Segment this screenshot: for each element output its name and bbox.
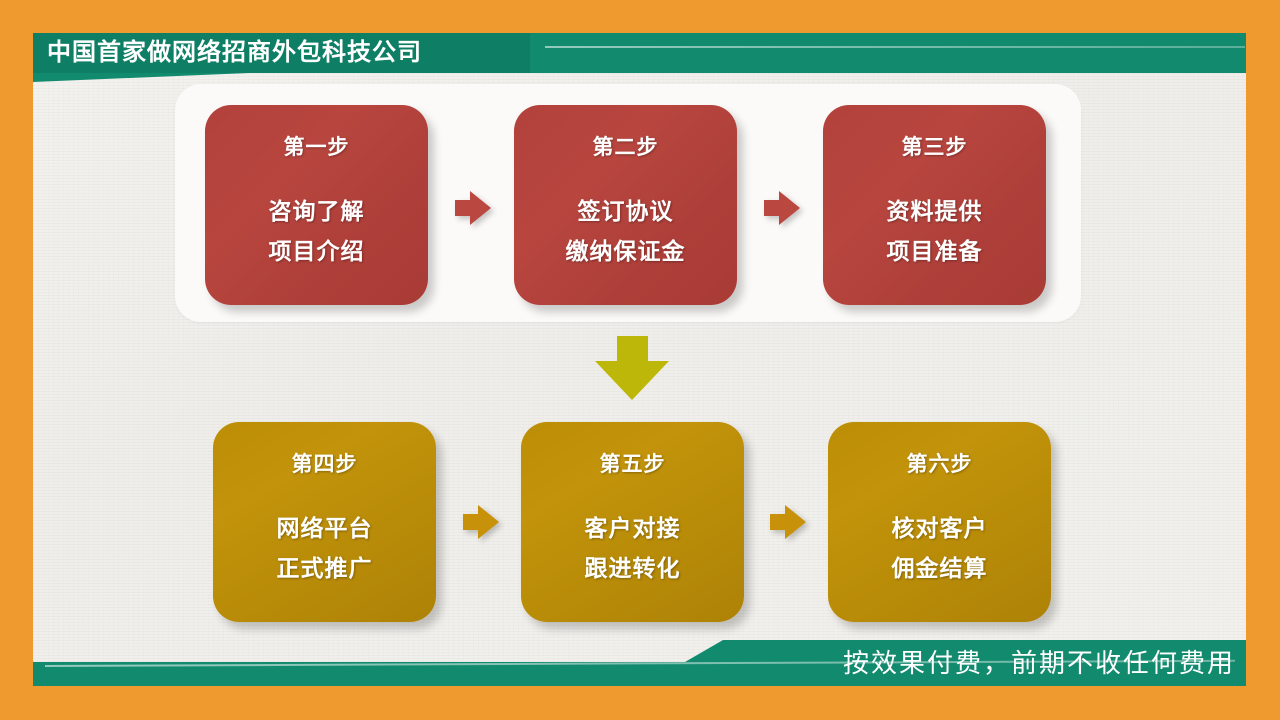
step-card-6[interactable]: 第六步 核对客户 佣金结算 (828, 422, 1051, 622)
step-card-3-line2: 项目准备 (887, 231, 983, 271)
footer-tagline: 按效果付费，前期不收任何费用 (843, 645, 1235, 681)
slide-root: 中国首家做网络招商外包科技公司 第一步 咨询了解 项目介绍 第二步 签订协议 缴… (0, 0, 1280, 720)
step-card-5-line2: 跟进转化 (585, 548, 681, 588)
step-card-4-lines: 网络平台 正式推广 (277, 508, 373, 588)
step-card-5-line1: 客户对接 (585, 508, 681, 548)
step-card-1[interactable]: 第一步 咨询了解 项目介绍 (205, 105, 428, 305)
arrow-right-icon-3 (463, 505, 499, 539)
page-title: 中国首家做网络招商外包科技公司 (47, 37, 422, 69)
arrow-head (785, 505, 806, 539)
step-card-5-lines: 客户对接 跟进转化 (585, 508, 681, 588)
step-card-4-line2: 正式推广 (277, 548, 373, 588)
step-card-1-line1: 咨询了解 (269, 191, 365, 231)
step-card-6-lines: 核对客户 佣金结算 (892, 508, 988, 588)
step-card-2-line2: 缴纳保证金 (566, 231, 686, 271)
arrow-shaft (617, 336, 648, 364)
arrow-head (470, 191, 491, 225)
step-card-2[interactable]: 第二步 签订协议 缴纳保证金 (514, 105, 737, 305)
step-card-1-lines: 咨询了解 项目介绍 (269, 191, 365, 271)
step-card-4[interactable]: 第四步 网络平台 正式推广 (213, 422, 436, 622)
step-card-5[interactable]: 第五步 客户对接 跟进转化 (521, 422, 744, 622)
arrow-right-icon-4 (770, 505, 806, 539)
step-card-1-step: 第一步 (284, 131, 350, 161)
step-card-4-line1: 网络平台 (277, 508, 373, 548)
step-card-3-line1: 资料提供 (887, 191, 983, 231)
step-card-4-step: 第四步 (292, 448, 358, 478)
arrow-head (595, 361, 669, 400)
arrow-down-icon (595, 336, 669, 398)
step-card-6-line1: 核对客户 (892, 508, 988, 548)
arrow-head (478, 505, 499, 539)
step-card-3[interactable]: 第三步 资料提供 项目准备 (823, 105, 1046, 305)
step-card-6-line2: 佣金结算 (892, 548, 988, 588)
step-card-3-step: 第三步 (902, 131, 968, 161)
step-card-2-line1: 签订协议 (566, 191, 686, 231)
step-card-3-lines: 资料提供 项目准备 (887, 191, 983, 271)
arrow-right-icon-2 (764, 191, 800, 225)
step-card-2-step: 第二步 (593, 131, 659, 161)
step-card-5-step: 第五步 (600, 448, 666, 478)
header-hairline (545, 46, 1245, 48)
arrow-head (779, 191, 800, 225)
arrow-right-icon-1 (455, 191, 491, 225)
step-card-6-step: 第六步 (907, 448, 973, 478)
step-card-2-lines: 签订协议 缴纳保证金 (566, 191, 686, 271)
step-card-1-line2: 项目介绍 (269, 231, 365, 271)
